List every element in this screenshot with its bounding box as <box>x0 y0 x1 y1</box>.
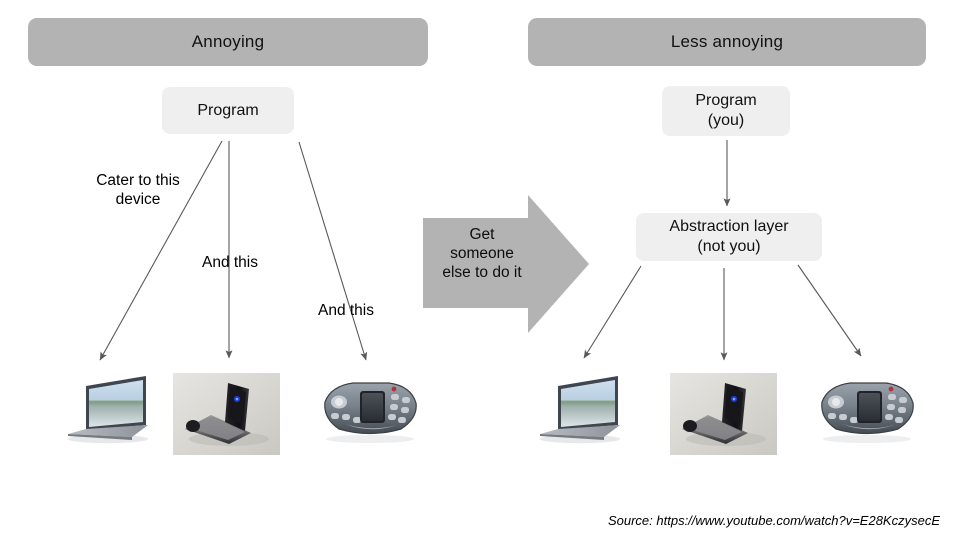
device-handheld-right <box>812 372 922 446</box>
handheld-gaming-phone-icon <box>812 372 922 446</box>
device-handheld-left <box>315 372 425 446</box>
node-abstraction-layer: Abstraction layer (not you) <box>636 213 822 261</box>
device-flip-phone-right <box>670 373 777 455</box>
block-arrow-label: Get someone else to do it <box>426 225 538 283</box>
flip-phone-icon <box>173 373 280 455</box>
node-abstraction-line1: Abstraction layer <box>669 217 788 237</box>
flip-phone-icon <box>670 373 777 455</box>
node-program-left-label: Program <box>197 101 258 121</box>
block-arrow-get-someone-else: Get someone else to do it <box>420 193 592 335</box>
node-program-left: Program <box>162 87 294 134</box>
laptop-icon <box>534 372 626 446</box>
slide-canvas: Annoying Less annoying Program Program (… <box>0 0 960 540</box>
edge-label-cater-to-this-device: Cater to this device <box>78 172 198 210</box>
node-program-you: Program (you) <box>662 86 790 136</box>
handheld-gaming-phone-icon <box>315 372 425 446</box>
node-program-you-line2: (you) <box>708 111 744 131</box>
connector-abstraction-to-laptop <box>584 266 641 358</box>
device-laptop-right <box>534 372 626 446</box>
edge-label-and-this-1: And this <box>186 254 274 273</box>
connector-abstraction-to-handheld <box>798 265 861 356</box>
edge-label-and-this-2: And this <box>300 302 392 321</box>
node-program-you-line1: Program <box>695 91 756 111</box>
source-attribution: Source: https://www.youtube.com/watch?v=… <box>0 513 940 528</box>
node-abstraction-line2: (not you) <box>697 237 760 257</box>
connector-program-to-handheld <box>299 142 366 360</box>
laptop-icon <box>62 372 154 446</box>
device-laptop-left <box>62 372 154 446</box>
device-flip-phone-left <box>173 373 280 455</box>
